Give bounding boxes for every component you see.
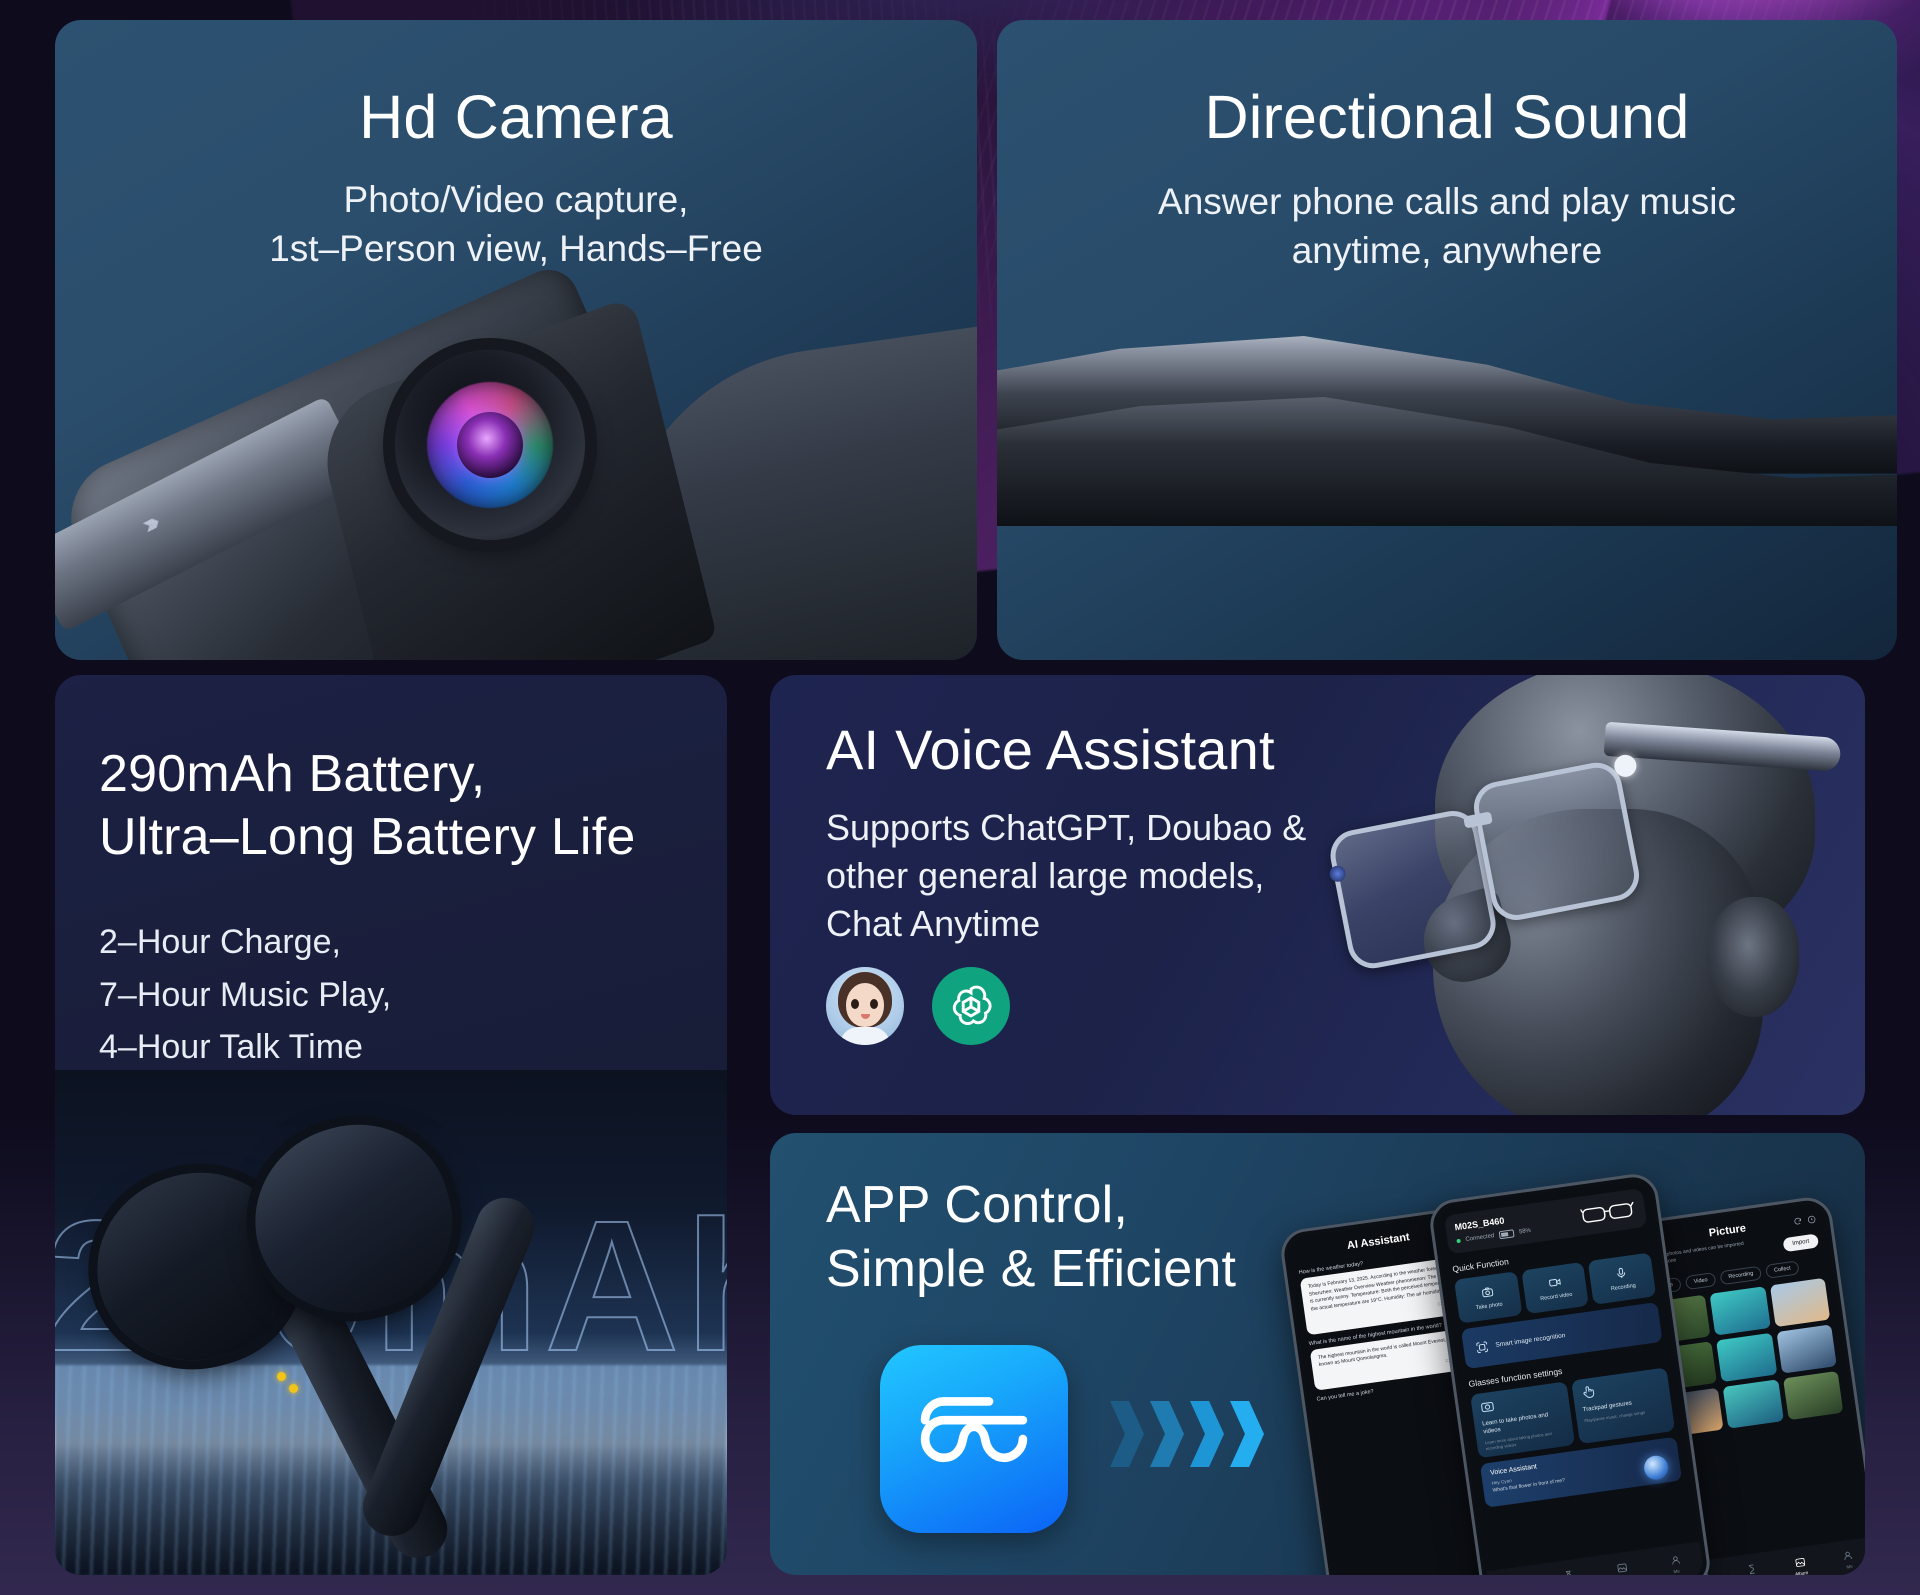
- album-icon: [1794, 1556, 1806, 1568]
- directional-sound-product-photo: [997, 320, 1897, 480]
- battery-spec-list: 2–Hour Charge, 7–Hour Music Play, 4–Hour…: [99, 916, 727, 1074]
- person-icon: [1842, 1549, 1854, 1561]
- quick-action-label: Take photo: [1476, 1302, 1503, 1312]
- battery-spec-item: 4–Hour Talk Time: [99, 1021, 727, 1074]
- tab-ai[interactable]: AI: [1539, 1556, 1598, 1575]
- ai-icon: [1746, 1563, 1758, 1575]
- video-icon: [1547, 1275, 1562, 1290]
- ai-icon: [1562, 1569, 1574, 1575]
- tab-me[interactable]: Me: [1822, 1537, 1865, 1575]
- connected-status-dot-icon: [1456, 1239, 1461, 1244]
- battery-icon: [1499, 1229, 1515, 1239]
- photo-thumbnail[interactable]: [1710, 1286, 1771, 1335]
- album-icon: [1615, 1561, 1627, 1573]
- quick-action-record-video[interactable]: Record video: [1521, 1262, 1589, 1314]
- filter-tab-collect[interactable]: Collect: [1765, 1260, 1799, 1278]
- photo-thumbnail[interactable]: [1723, 1379, 1784, 1428]
- mannequin-head-product-photo: [1315, 675, 1865, 1115]
- smart-image-recognition-label: Smart image recognition: [1495, 1332, 1566, 1349]
- battery-percent: 58%: [1519, 1228, 1532, 1236]
- camera-lens-icon: [395, 350, 585, 540]
- battery-title: 290mAh Battery, Ultra–Long Battery Life: [99, 743, 727, 870]
- directional-sound-title: Directional Sound: [997, 82, 1897, 152]
- tab-home[interactable]: Home: [1486, 1564, 1545, 1575]
- panel-ai-voice-assistant: AI Voice Assistant Supports ChatGPT, Dou…: [770, 675, 1865, 1115]
- glasses-icon: [1580, 1198, 1636, 1225]
- flow-arrows-icon: [1110, 1401, 1264, 1467]
- microphone-icon: [1614, 1266, 1629, 1281]
- more-icon: [1807, 1214, 1817, 1224]
- image-scan-icon: [1475, 1339, 1490, 1354]
- battery-title-line-2: Ultra–Long Battery Life: [99, 808, 635, 866]
- ai-subtitle-line-3: Chat Anytime: [826, 903, 1040, 944]
- ai-subtitle-line-2: other general large models,: [826, 855, 1264, 896]
- photo-thumbnail[interactable]: [1716, 1332, 1777, 1381]
- directional-sound-subtitle-line-2: anytime, anywhere: [1292, 230, 1603, 271]
- person-icon: [1669, 1554, 1681, 1566]
- app-phone-mockups: AI Assistant How is the weather today? T…: [1297, 1145, 1857, 1575]
- setting-card-trackpad-gestures[interactable]: Trackpad gestures Play/pause music, chan…: [1571, 1367, 1675, 1444]
- header-icons[interactable]: [1793, 1214, 1817, 1226]
- hd-camera-product-photo: ››››››: [55, 260, 977, 660]
- directional-sound-subtitle-line-1: Answer phone calls and play music: [1158, 181, 1736, 222]
- battery-product-photo: 290mAh: [55, 1070, 727, 1575]
- photo-thumbnail[interactable]: [1776, 1324, 1837, 1373]
- tab-ai[interactable]: AI: [1726, 1551, 1779, 1575]
- panel-directional-sound: Directional Sound Answer phone calls and…: [997, 20, 1897, 660]
- quick-action-take-photo[interactable]: Take photo: [1454, 1271, 1522, 1323]
- tab-label: Album: [1795, 1570, 1809, 1575]
- directional-sound-subtitle: Answer phone calls and play music anytim…: [997, 178, 1897, 276]
- photo-thumbnail[interactable]: [1770, 1277, 1831, 1326]
- battery-title-line-1: 290mAh Battery,: [99, 745, 485, 803]
- battery-spec-item: 2–Hour Charge,: [99, 916, 727, 969]
- tab-album[interactable]: Album: [1774, 1544, 1827, 1575]
- camera-icon: [1479, 1398, 1496, 1415]
- panel-app-control: APP Control, Simple & Efficient AI Assis…: [770, 1133, 1865, 1575]
- openai-logo-icon[interactable]: [932, 967, 1010, 1045]
- app-control-title-line-1: APP Control,: [826, 1176, 1128, 1234]
- tab-label: Me: [1673, 1568, 1680, 1574]
- photo-thumbnail[interactable]: [1783, 1370, 1844, 1419]
- touch-icon: [1579, 1384, 1596, 1401]
- camera-icon: [1480, 1285, 1495, 1300]
- sync-icon: [1793, 1216, 1803, 1226]
- hd-camera-subtitle: Photo/Video capture, 1st–Person view, Ha…: [55, 176, 977, 274]
- filter-tab-video[interactable]: Video: [1685, 1272, 1717, 1290]
- ai-model-badges: [826, 967, 1010, 1045]
- picture-screen-title: Picture: [1661, 1216, 1794, 1246]
- app-control-title-line-2: Simple & Efficient: [826, 1240, 1236, 1298]
- hd-camera-title: Hd Camera: [55, 82, 977, 152]
- battery-spec-item: 7–Hour Music Play,: [99, 969, 727, 1022]
- ai-subtitle-line-1: Supports ChatGPT, Doubao &: [826, 807, 1306, 848]
- connection-status: Connected: [1465, 1233, 1495, 1243]
- doubao-avatar-icon[interactable]: [826, 967, 904, 1045]
- hd-camera-subtitle-line-1: Photo/Video capture,: [344, 179, 689, 220]
- filter-tab-recording[interactable]: Recording: [1720, 1265, 1763, 1285]
- bottom-tab-bar: Home AI Album Me: [1486, 1541, 1705, 1575]
- panel-battery: 290mAh Battery, Ultra–Long Battery Life …: [55, 675, 727, 1575]
- panel-hd-camera: ›››››› Hd Camera Photo/Video capture, 1s…: [55, 20, 977, 660]
- tab-label: Me: [1846, 1563, 1853, 1569]
- quick-action-label: Record video: [1540, 1292, 1573, 1302]
- setting-card-learn-photos[interactable]: Learn to take photos and videos Learn mo…: [1470, 1381, 1574, 1458]
- glasses-render: [91, 1104, 691, 1524]
- quick-action-recording[interactable]: Recording: [1588, 1252, 1656, 1304]
- tab-me[interactable]: Me: [1646, 1541, 1705, 1575]
- quick-action-label: Recording: [1611, 1283, 1637, 1292]
- glasses-app-icon[interactable]: [880, 1345, 1068, 1533]
- import-button[interactable]: Import: [1782, 1233, 1819, 1252]
- tab-album[interactable]: Album: [1593, 1549, 1652, 1575]
